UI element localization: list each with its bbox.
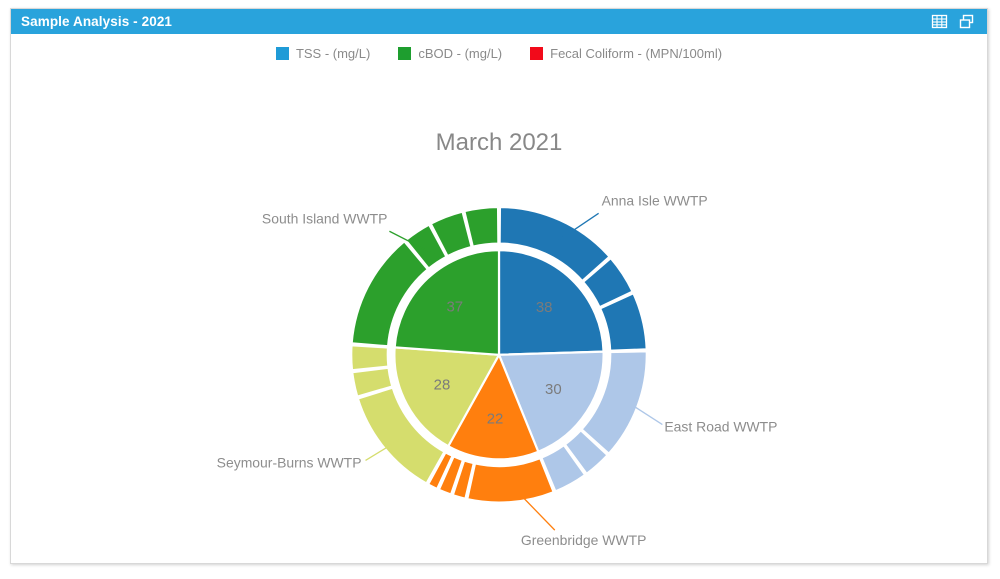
pie-chart-svg: Anna Isle WWTPEast Road WWTPGreenbridge … [11, 34, 987, 563]
chart-area: TSS - (mg/L) cBOD - (mg/L) Fecal Colifor… [11, 34, 987, 563]
callout-label: Greenbridge WWTP [521, 532, 646, 548]
outer-ring-segment[interactable] [468, 459, 554, 503]
app-root: Sample Analysis - 2021 [0, 0, 1000, 579]
chart-panel: Sample Analysis - 2021 [10, 8, 988, 564]
outer-ring-segment[interactable] [352, 346, 388, 370]
callout-label: Anna Isle WWTP [602, 192, 708, 208]
grid-table-icon[interactable] [931, 13, 948, 30]
inner-pie-group [394, 250, 603, 459]
callout-label: Seymour-Burns WWTP [217, 454, 362, 470]
panel-titlebar: Sample Analysis - 2021 [11, 9, 987, 34]
callout-label: South Island WWTP [262, 210, 387, 226]
restore-window-icon[interactable] [958, 13, 975, 30]
titlebar-icon-group [931, 13, 981, 30]
callout-leader-line [523, 497, 555, 530]
panel-title: Sample Analysis - 2021 [21, 14, 172, 29]
callout-label: East Road WWTP [664, 418, 777, 434]
